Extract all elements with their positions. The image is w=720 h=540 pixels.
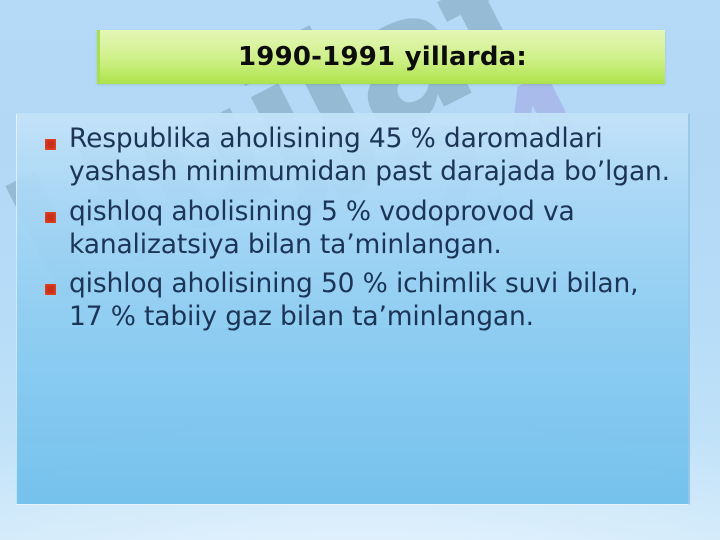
square-bullet-icon	[45, 284, 56, 295]
slide-title-text: 1990-1991 yillarda:	[238, 42, 527, 72]
list-item: qishloq aholisining 50 % ichimlik suvi b…	[31, 267, 676, 334]
bullet-text: Respublika aholisining 45 % daromadlari …	[69, 122, 676, 189]
bullet-text: qishloq aholisining 50 % ichimlik suvi b…	[69, 267, 676, 334]
list-item: Respublika aholisining 45 % daromadlari …	[31, 122, 676, 189]
list-item: qishloq aholisining 5 % vodoprovod va ka…	[31, 195, 676, 262]
slide-canvas: Hujjat 24 1990-1991 yillarda: Respublika…	[0, 0, 720, 540]
square-bullet-icon	[45, 212, 56, 223]
bullet-text: qishloq aholisining 5 % vodoprovod va ka…	[69, 195, 676, 262]
square-bullet-icon	[45, 139, 56, 150]
content-panel: Respublika aholisining 45 % daromadlari …	[16, 113, 690, 505]
slide-title-bar: 1990-1991 yillarda:	[97, 30, 665, 84]
bullet-list: Respublika aholisining 45 % daromadlari …	[31, 122, 676, 334]
